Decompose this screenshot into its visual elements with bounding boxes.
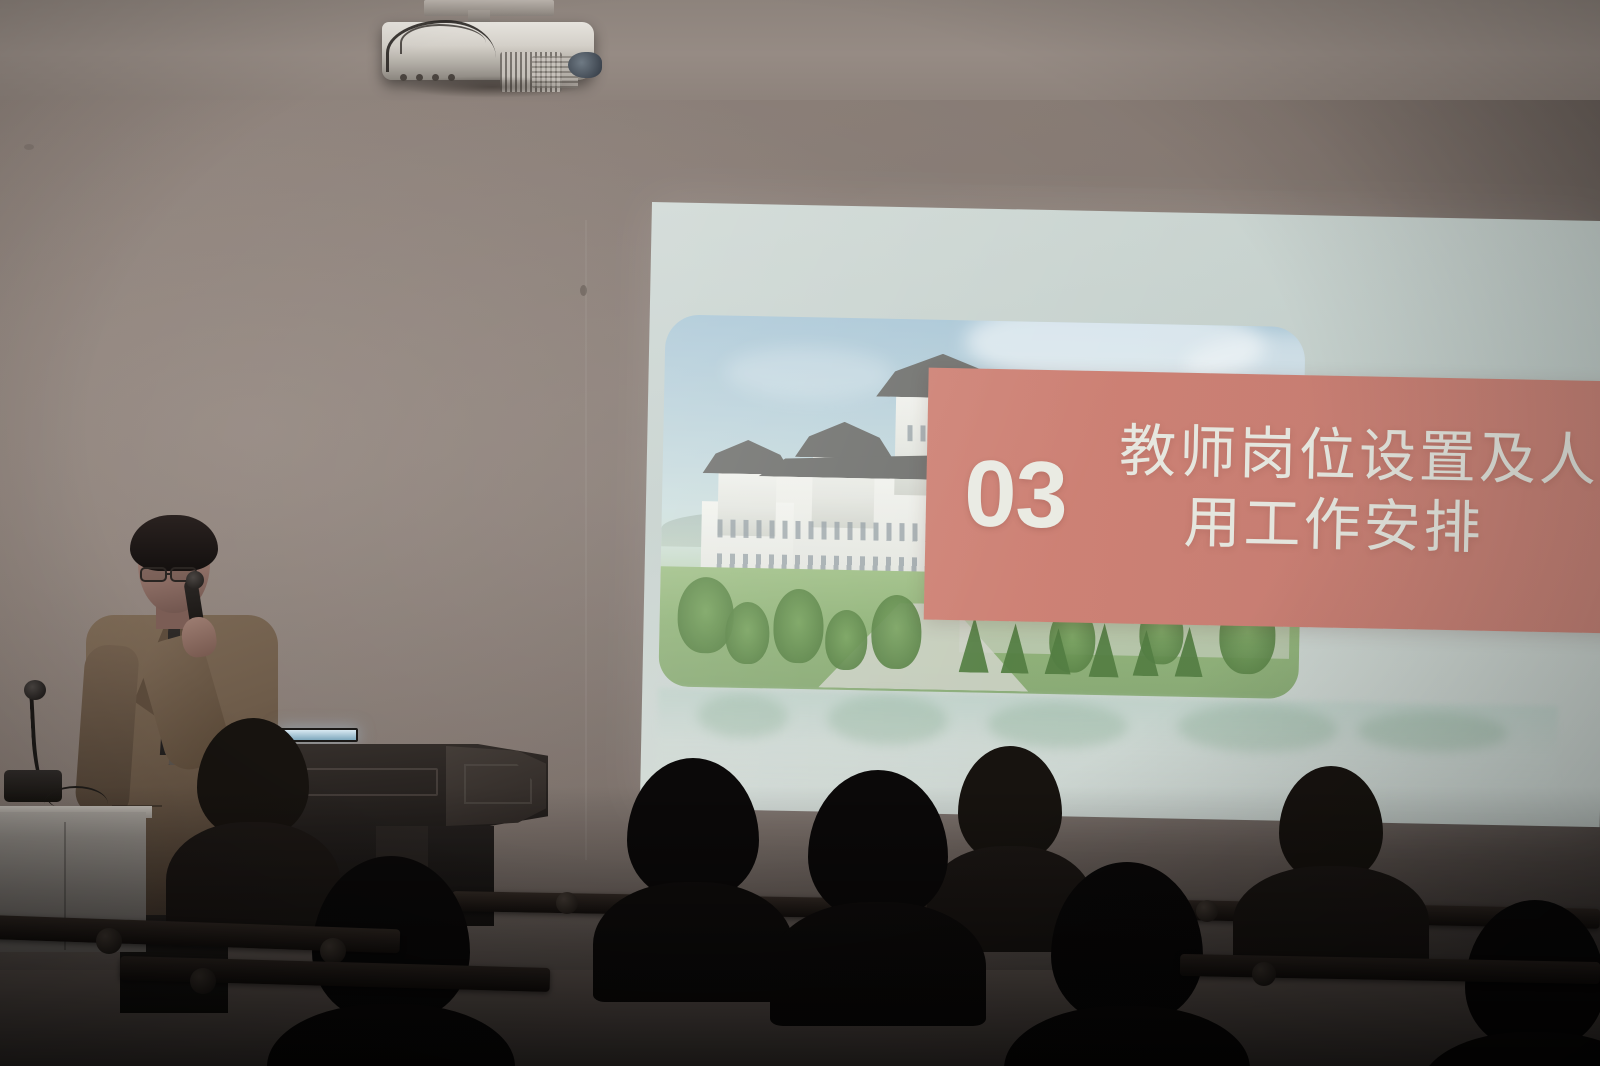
tree-4	[825, 610, 868, 671]
audience-member-mid-center	[778, 770, 978, 1010]
presentation-hall-scene: 03 教师岗位设置及人员聘 用工作安排	[0, 0, 1600, 1066]
wall-joint-line	[585, 220, 587, 860]
reflection-blob-4	[1177, 703, 1338, 754]
projected-slide: 03 教师岗位设置及人员聘 用工作安排	[640, 202, 1600, 827]
seat-rail-knob-a	[556, 892, 578, 914]
audience-shoulders	[267, 1004, 515, 1066]
audience-head	[808, 770, 948, 920]
tree-3	[773, 589, 824, 664]
projector-assembly	[372, 0, 622, 100]
slide-title-line-1: 教师岗位设置及人员聘	[1118, 419, 1600, 495]
glasses-bridge	[167, 573, 172, 575]
audience-member-right	[1236, 766, 1426, 966]
audience-member-mid-left	[598, 758, 788, 988]
seat-rail-front-knob-b	[320, 938, 346, 964]
reflection-blob-1	[697, 693, 788, 739]
audience-shoulders	[593, 882, 793, 1002]
seat-rail-right-knob	[1252, 962, 1276, 986]
audience-head	[197, 718, 309, 838]
seat-rail-front-knob-c	[190, 968, 216, 994]
slide-title: 教师岗位设置及人员聘 用工作安排	[1117, 417, 1600, 569]
slide-section-number: 03	[963, 446, 1067, 542]
glasses-left-lens-icon	[140, 567, 167, 582]
wall-mark-2	[24, 144, 34, 150]
audience-head	[627, 758, 759, 900]
reflection-blob-2	[827, 694, 948, 746]
audience-shoulders	[1420, 1032, 1600, 1066]
tree-2	[725, 602, 770, 665]
presenter-hair	[130, 515, 218, 571]
reflection-blob-3	[987, 701, 1128, 750]
audience-head	[1279, 766, 1383, 882]
seat-rail-front-knob-a	[96, 928, 122, 954]
reflection-blob-5	[1357, 710, 1508, 753]
slide-title-line-2: 用工作安排	[1117, 487, 1600, 569]
projector-lens	[568, 52, 602, 78]
cloud-3	[724, 345, 895, 400]
audience-shoulders	[770, 902, 986, 1026]
gooseneck-microphone-head-icon	[24, 680, 46, 700]
audience-shoulders	[1004, 1006, 1250, 1066]
wall-mark-1	[580, 285, 587, 296]
slide-title-band: 03 教师岗位设置及人员聘 用工作安排	[924, 368, 1600, 635]
audience-head	[1051, 862, 1203, 1024]
microphone-head-icon	[186, 571, 204, 589]
lectern-panel-inlay	[464, 764, 532, 804]
tower-mid-left-roof	[795, 421, 894, 459]
projector-shadow	[402, 76, 582, 98]
tree-5	[871, 594, 922, 669]
